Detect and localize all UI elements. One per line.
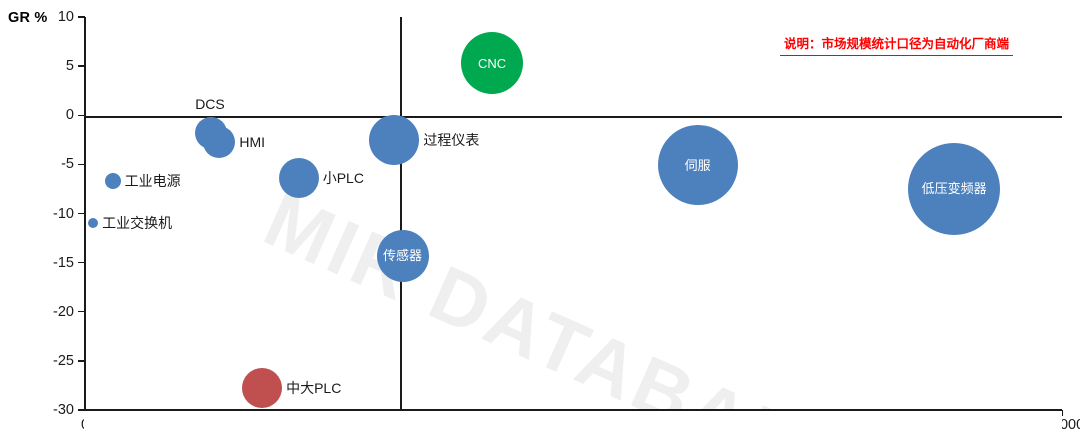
bubble-9[interactable]: 低压变频器 <box>908 143 1000 235</box>
bubble-chart: MIR DATABANK GR % 1050-5-10-15-20-25-30 … <box>0 0 1080 438</box>
bubble-8[interactable]: 伺服 <box>658 125 738 205</box>
bubble-3[interactable] <box>203 126 235 158</box>
bubble-layer: 工业交换机工业电源DCSHMI小PLC传感器过程仪表CNC伺服低压变频器中大PL… <box>0 0 1080 438</box>
bubble-label: CNC <box>478 57 506 70</box>
bubble-label: 工业交换机 <box>102 216 172 230</box>
bubble-label: 低压变频器 <box>922 182 987 195</box>
bubble-5[interactable]: 传感器 <box>377 230 429 282</box>
bubble-label: 工业电源 <box>125 174 181 188</box>
bubble-1[interactable] <box>105 173 121 189</box>
bubble-label: DCS <box>195 97 225 111</box>
bubble-4[interactable] <box>279 158 319 198</box>
bubble-label: 过程仪表 <box>423 133 479 147</box>
bubble-label: 中大PLC <box>286 381 341 395</box>
axis-clip-mask <box>84 411 1062 438</box>
bubble-label: 传感器 <box>383 249 422 262</box>
bubble-0[interactable] <box>88 218 98 228</box>
bubble-label: HMI <box>239 135 265 149</box>
bubble-6[interactable] <box>369 115 419 165</box>
bubble-label: 伺服 <box>685 159 711 172</box>
bubble-label: 小PLC <box>323 171 364 185</box>
bubble-10[interactable] <box>242 368 282 408</box>
note-annotation: 说明：市场规模统计口径为自动化厂商端 <box>780 31 1013 56</box>
bubble-7[interactable]: CNC <box>461 32 523 94</box>
